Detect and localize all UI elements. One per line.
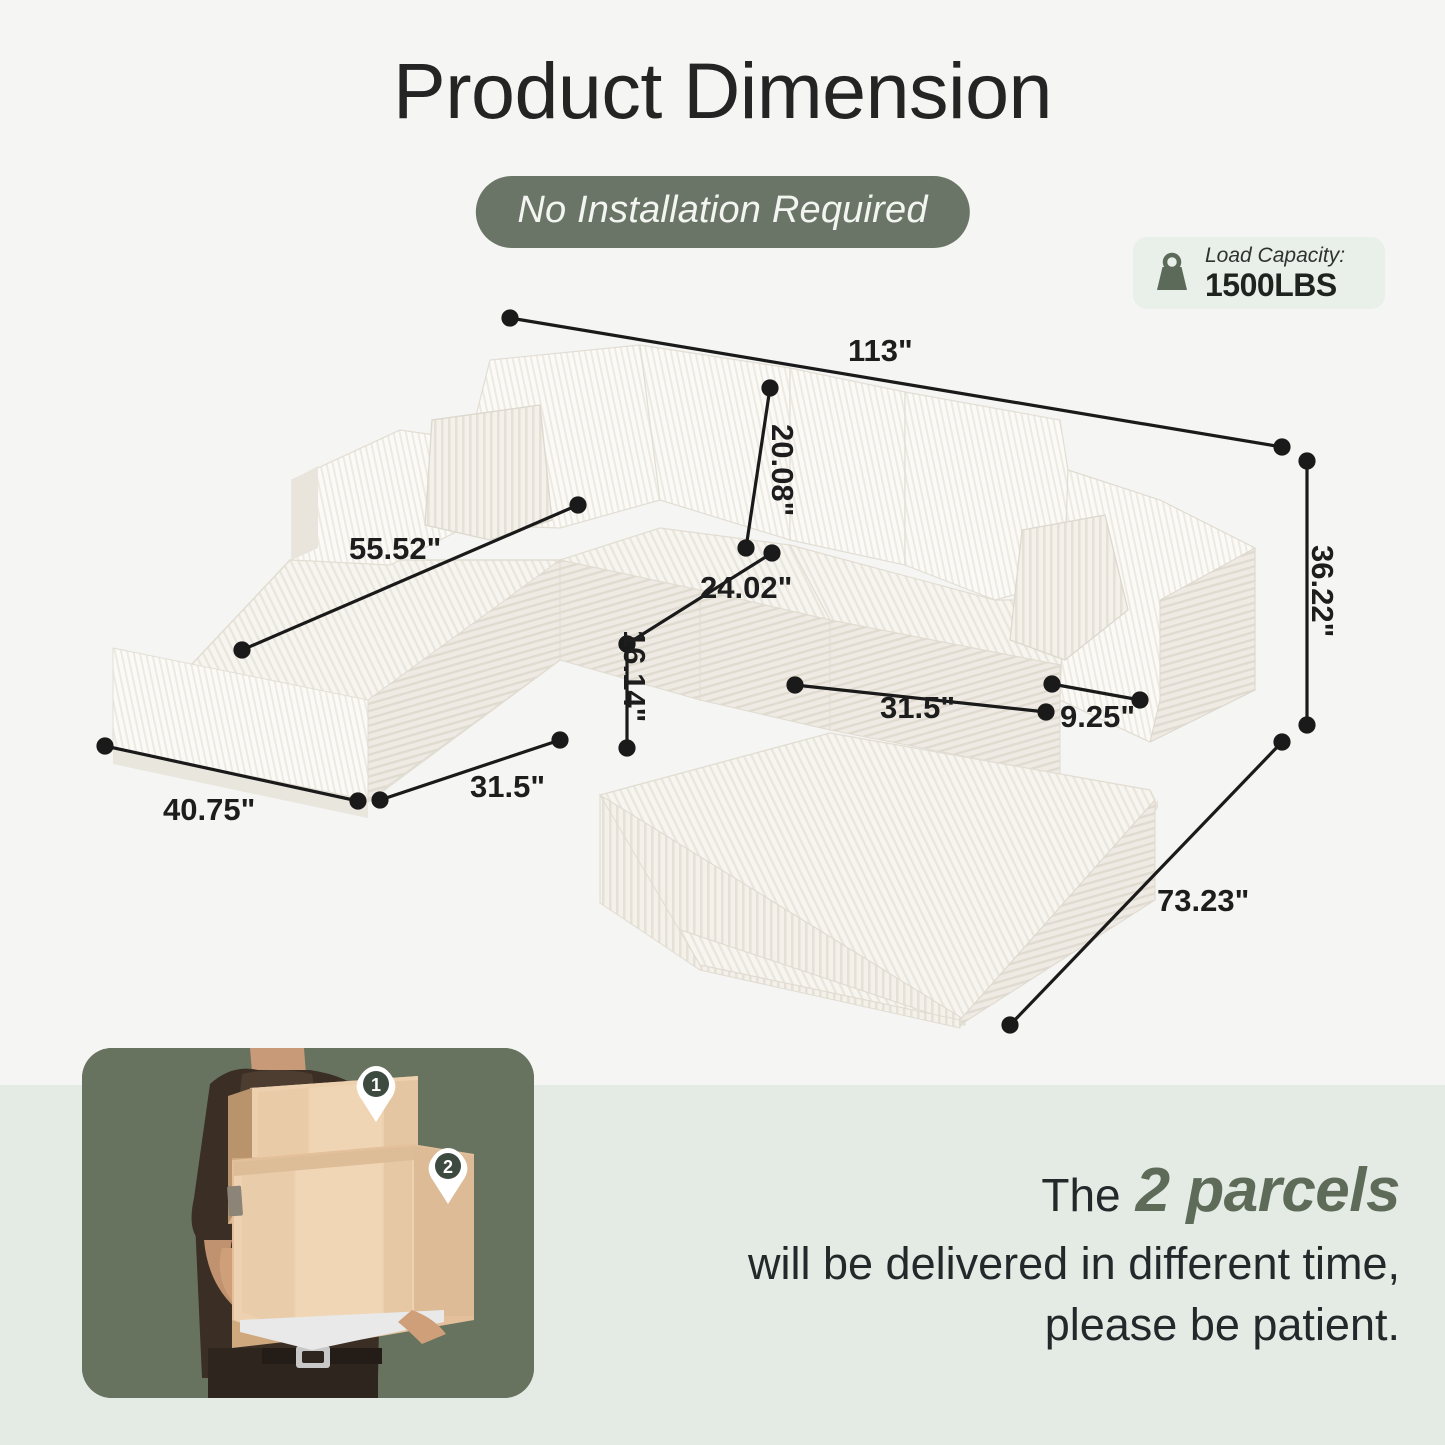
delivery-line-1: The 2 parcels bbox=[600, 1155, 1400, 1226]
dim-label-chaise-length: 55.52" bbox=[349, 531, 441, 567]
ottoman-module bbox=[600, 733, 1158, 1028]
parcel-pin-1: 1 bbox=[354, 1066, 398, 1122]
dim-label-seat-depth: 24.02" bbox=[700, 570, 792, 606]
product-dimension-infographic: Product Dimension No Installation Requir… bbox=[0, 0, 1445, 1445]
dim-label-module-width-left: 31.5" bbox=[470, 769, 545, 805]
dim-label-chaise-width: 40.75" bbox=[163, 792, 255, 828]
dim-label-overall-depth: 73.23" bbox=[1157, 883, 1249, 919]
delivery-message: The 2 parcels will be delivered in diffe… bbox=[600, 1155, 1400, 1356]
dim-label-seat-height: 16.14" bbox=[616, 630, 652, 722]
parcel-pin-2: 2 bbox=[426, 1148, 470, 1204]
delivery-photo: 1 2 bbox=[82, 1048, 534, 1398]
delivery-line-2: will be delivered in different time, bbox=[600, 1234, 1400, 1295]
dim-label-backrest-height: 20.08" bbox=[764, 424, 800, 516]
delivery-photo-illustration bbox=[82, 1048, 534, 1398]
svg-text:1: 1 bbox=[371, 1075, 381, 1095]
dim-label-armrest-width: 9.25" bbox=[1060, 699, 1135, 735]
dim-label-overall-width: 113" bbox=[848, 333, 913, 369]
delivery-line-3: please be patient. bbox=[600, 1295, 1400, 1356]
svg-text:2: 2 bbox=[443, 1157, 453, 1177]
sofa-body bbox=[113, 345, 1255, 1028]
delivery-line-1-prefix: The bbox=[1041, 1169, 1120, 1221]
delivery-line-1-highlight: 2 parcels bbox=[1136, 1156, 1400, 1225]
dim-label-overall-height: 36.22" bbox=[1304, 545, 1340, 637]
dim-label-module-width-right: 31.5" bbox=[880, 690, 955, 726]
